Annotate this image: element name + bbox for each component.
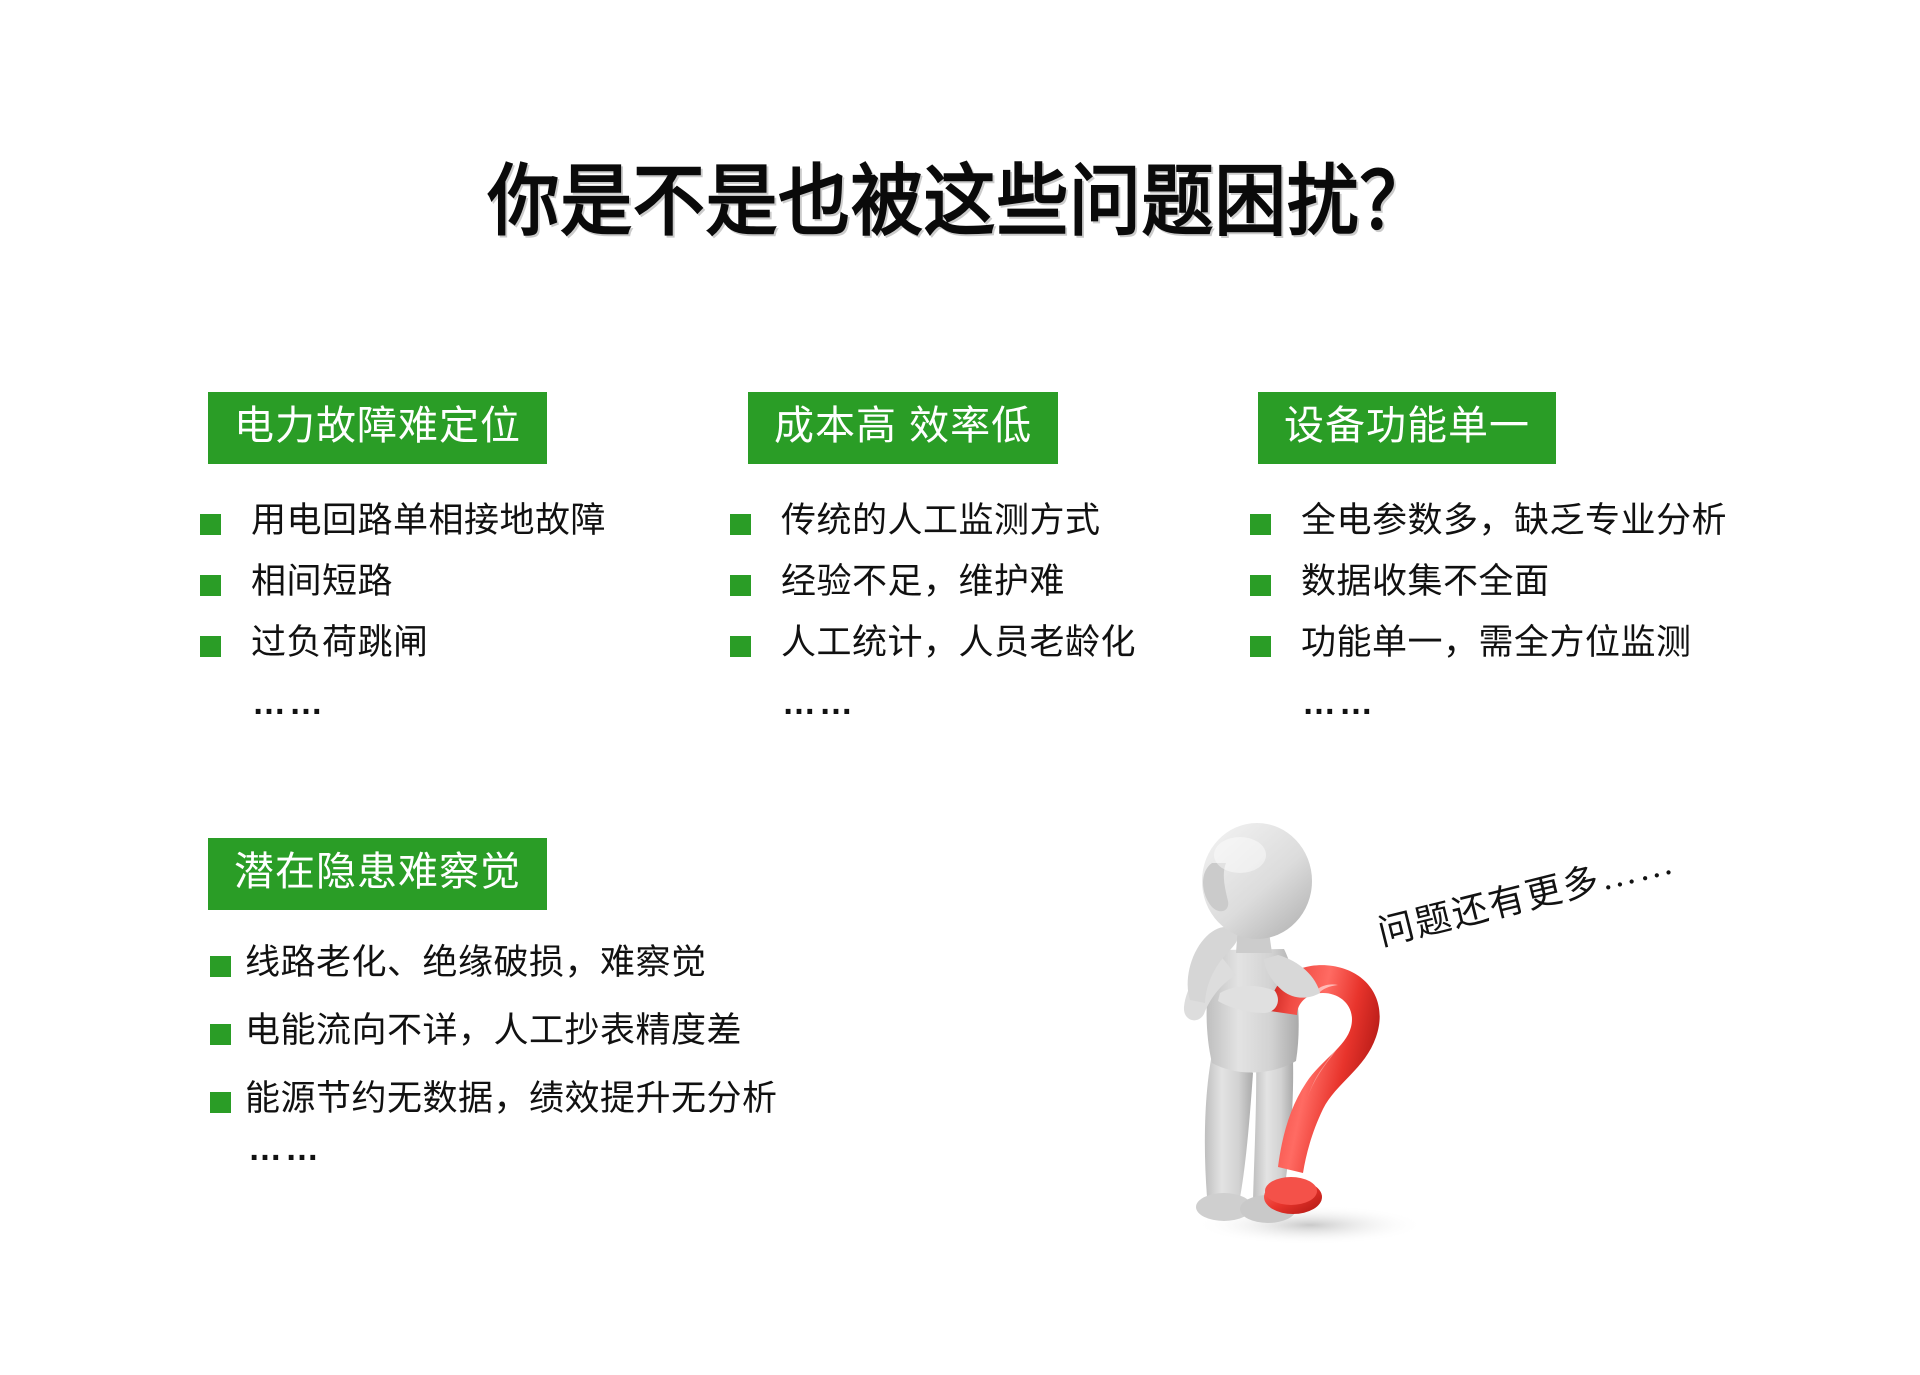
bullet-list-hidden-danger: 线路老化、绝缘破损，难察觉 电能流向不详，人工抄表精度差 能源节约无数据，绩效提… <box>210 945 778 1166</box>
more-ellipsis: …… <box>248 1132 778 1166</box>
bullet-square-icon <box>1250 575 1271 596</box>
list-item-label: 功能单一，需全方位监测 <box>1301 625 1692 660</box>
section-heading-power-fault: 电力故障难定位 <box>208 392 547 464</box>
list-item: 过负荷跳闸 <box>200 625 606 660</box>
bullet-square-icon <box>210 1092 231 1113</box>
bullet-square-icon <box>730 636 751 657</box>
list-item-label: 人工统计，人员老龄化 <box>781 625 1136 660</box>
bullet-square-icon <box>730 575 751 596</box>
bullet-square-icon <box>200 514 221 535</box>
bullet-square-icon <box>730 514 751 535</box>
bullet-list-device-function: 全电参数多，缺乏专业分析 数据收集不全面 功能单一，需全方位监测 …… <box>1250 503 1727 720</box>
bullet-square-icon <box>200 575 221 596</box>
more-ellipsis: …… <box>782 686 1136 720</box>
thinking-person-question-mark-illustration <box>1160 815 1470 1245</box>
list-item-label: 用电回路单相接地故障 <box>251 503 606 538</box>
list-item: 人工统计，人员老龄化 <box>730 625 1136 660</box>
list-item-label: 过负荷跳闸 <box>251 625 429 660</box>
section-heading-device-function: 设备功能单一 <box>1258 392 1556 464</box>
bullet-list-cost-efficiency: 传统的人工监测方式 经验不足，维护难 人工统计，人员老龄化 …… <box>730 503 1136 720</box>
list-item: 全电参数多，缺乏专业分析 <box>1250 503 1727 538</box>
bullet-square-icon <box>200 636 221 657</box>
list-item: 经验不足，维护难 <box>730 564 1136 599</box>
list-item-label: 能源节约无数据，绩效提升无分析 <box>245 1081 778 1116</box>
bullet-square-icon <box>210 956 231 977</box>
bullet-square-icon <box>1250 636 1271 657</box>
bullet-square-icon <box>210 1024 231 1045</box>
list-item: 线路老化、绝缘破损，难察觉 <box>210 945 778 980</box>
list-item-label: 相间短路 <box>251 564 393 599</box>
list-item-label: 传统的人工监测方式 <box>781 503 1101 538</box>
more-ellipsis: …… <box>1302 686 1727 720</box>
section-heading-cost-efficiency: 成本高 效率低 <box>748 392 1058 464</box>
list-item-label: 经验不足，维护难 <box>781 564 1065 599</box>
list-item: 电能流向不详，人工抄表精度差 <box>210 1013 778 1048</box>
list-item: 用电回路单相接地故障 <box>200 503 606 538</box>
list-item: 数据收集不全面 <box>1250 564 1727 599</box>
list-item-label: 电能流向不详，人工抄表精度差 <box>245 1013 742 1048</box>
list-item-label: 数据收集不全面 <box>1301 564 1550 599</box>
bullet-list-power-fault: 用电回路单相接地故障 相间短路 过负荷跳闸 …… <box>200 503 606 720</box>
list-item: 相间短路 <box>200 564 606 599</box>
list-item-label: 全电参数多，缺乏专业分析 <box>1301 503 1727 538</box>
list-item: 能源节约无数据，绩效提升无分析 <box>210 1081 778 1116</box>
more-ellipsis: …… <box>252 686 606 720</box>
section-heading-hidden-danger: 潜在隐患难察觉 <box>208 838 547 910</box>
list-item: 功能单一，需全方位监测 <box>1250 625 1727 660</box>
list-item-label: 线路老化、绝缘破损，难察觉 <box>245 945 707 980</box>
list-item: 传统的人工监测方式 <box>730 503 1136 538</box>
page-title: 你是不是也被这些问题困扰？ <box>77 162 1843 240</box>
bullet-square-icon <box>1250 514 1271 535</box>
